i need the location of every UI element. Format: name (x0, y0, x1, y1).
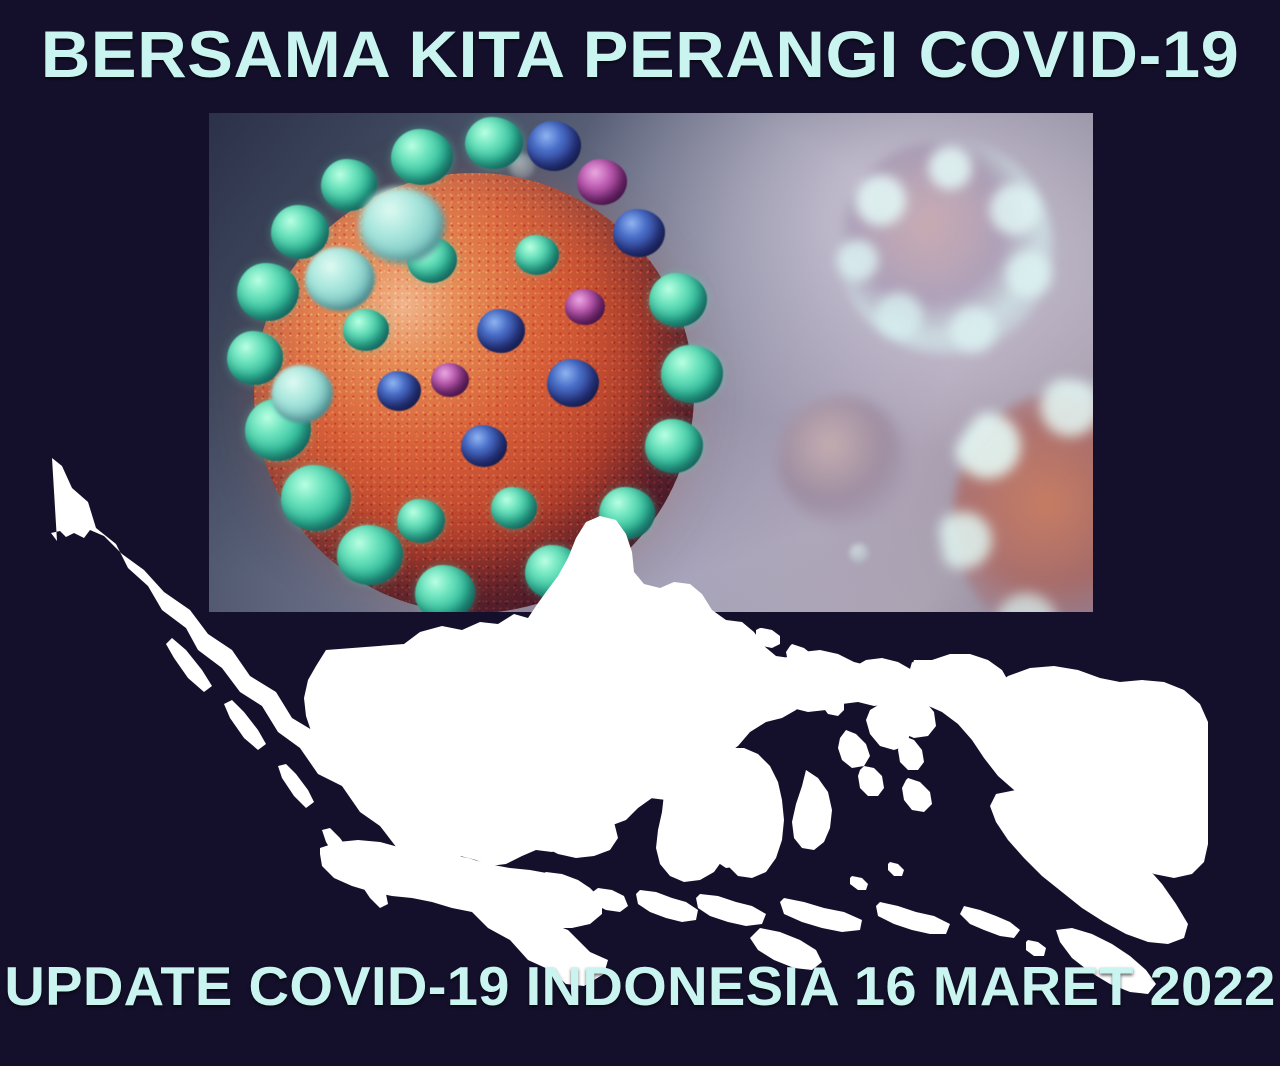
spike-protein-icon (613, 209, 665, 257)
spike-protein-icon (337, 525, 403, 585)
page-title: BERSAMA KITA PERANGI COVID-19 (0, 18, 1280, 90)
spike-protein-icon (343, 309, 389, 351)
background-virion-icon (838, 139, 1053, 354)
spike-protein-icon (271, 365, 333, 423)
spike-protein-icon (525, 545, 583, 599)
spike-protein-icon (237, 263, 299, 321)
background-virion-icon (953, 393, 1093, 612)
spike-protein-icon (359, 187, 445, 263)
spike-protein-icon (305, 247, 375, 311)
spike-protein-icon (565, 289, 605, 325)
spike-protein-icon (547, 359, 599, 407)
spike-protein-icon (477, 309, 525, 353)
spike-protein-icon (465, 117, 523, 169)
background-virion-icon (778, 396, 906, 524)
spike-protein-icon (649, 273, 707, 327)
spike-protein-icon (431, 363, 469, 397)
spike-protein-icon (527, 121, 581, 171)
spike-protein-icon (461, 425, 507, 467)
spike-protein-icon (391, 129, 453, 185)
footer-caption: UPDATE COVID-19 INDONESIA 16 MARET 2022 (0, 955, 1280, 1017)
spike-protein-icon (397, 499, 445, 543)
spike-protein-icon (377, 371, 421, 411)
spike-protein-icon (577, 159, 627, 205)
spike-protein-icon (281, 465, 351, 531)
spike-protein-icon (661, 345, 723, 403)
spike-protein-icon (515, 235, 559, 275)
spike-protein-icon (645, 419, 703, 473)
spike-protein-icon (491, 487, 537, 529)
spike-protein-icon (599, 487, 655, 539)
bokeh-dot-icon (849, 543, 869, 563)
virus-photo (209, 113, 1093, 612)
spike-protein-icon (227, 331, 283, 385)
covid-poster: BERSAMA KITA PERANGI COVID-19 (0, 0, 1280, 1066)
